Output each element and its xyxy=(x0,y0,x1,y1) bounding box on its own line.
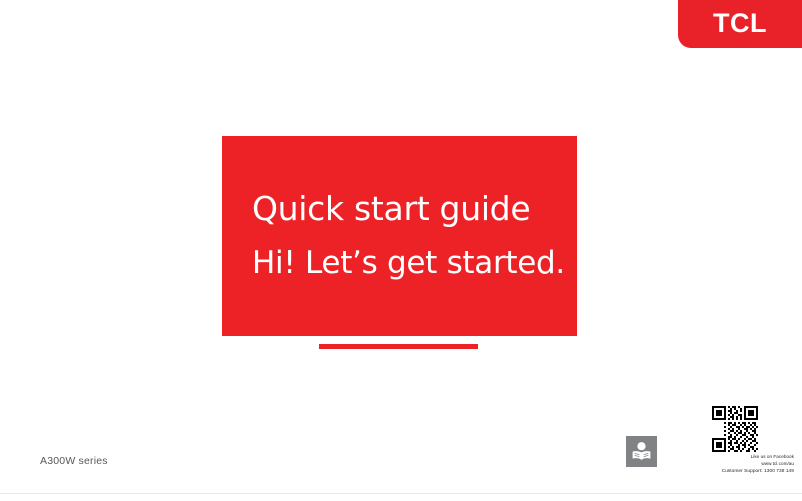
read-manual-icon xyxy=(626,436,657,467)
facebook-line: Like us on Facebook xyxy=(676,454,794,461)
qr-code-icon[interactable] xyxy=(712,406,758,452)
tv-hero-panel: Quick start guide Hi! Let’s get started. xyxy=(222,136,577,336)
tv-stand-bar xyxy=(319,344,478,349)
tv-copy-block: Quick start guide Hi! Let’s get started. xyxy=(252,136,555,336)
support-block: Like us on Facebook www.tcl.com/au Custo… xyxy=(676,406,800,475)
page-title: Quick start guide xyxy=(252,192,555,227)
series-label: A300W series xyxy=(40,455,108,467)
page-subtitle: Hi! Let’s get started. xyxy=(252,247,555,280)
quick-start-guide-page: TCL Quick start guide Hi! Let’s get star… xyxy=(0,0,802,501)
website-line[interactable]: www.tcl.com/au xyxy=(676,461,794,468)
tcl-logo: TCL xyxy=(678,0,802,48)
tcl-logo-text: TCL xyxy=(713,10,767,39)
customer-support-line: Customer Support: 1300 738 149 xyxy=(676,468,794,475)
page-bottom-rule xyxy=(0,493,802,494)
support-fine-print: Like us on Facebook www.tcl.com/au Custo… xyxy=(676,454,800,475)
